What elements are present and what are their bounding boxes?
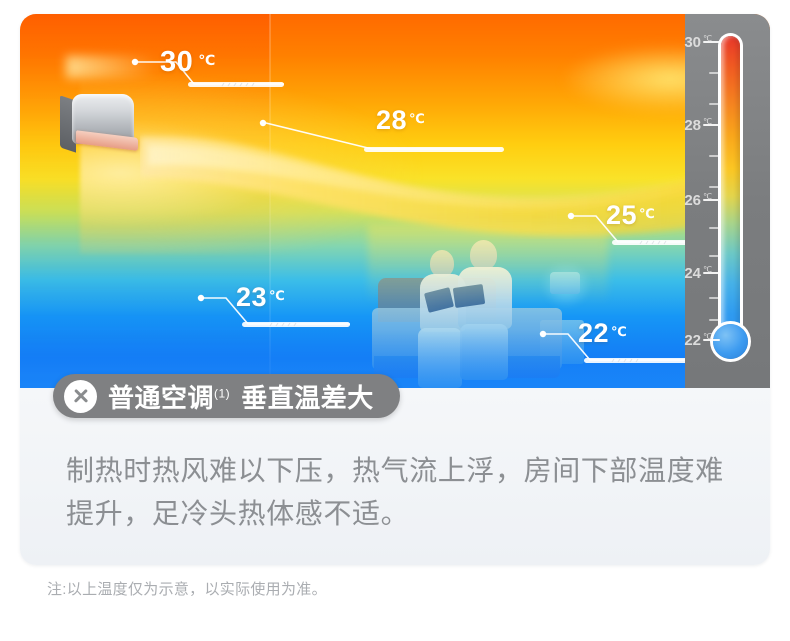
badge-subtitle: 垂直温差大 [241, 383, 374, 413]
thermometer-bulb [713, 324, 748, 359]
person-right [470, 240, 497, 270]
thermometer-label-24-value: 24 [684, 265, 701, 282]
page-root: 30℃ 28℃ [0, 0, 790, 641]
thermometer-panel: 30℃ 28℃ 26℃ 24℃ 22℃ [685, 14, 770, 388]
thermometer-tick-minor [709, 319, 720, 321]
thermometer-tube [721, 36, 740, 338]
body-paragraph: 制热时热风难以下压，热气流上浮，房间下部温度难提升，足冷头热体感不适。 [66, 450, 738, 535]
thermometer-label-22-value: 22 [684, 332, 701, 349]
thermometer-label-28-unit: ℃ [703, 117, 712, 126]
status-badge: 普通空调(1)垂直温差大 [53, 374, 400, 418]
table-lamp-icon [550, 272, 580, 294]
person-left-head [430, 250, 454, 277]
thermometer-label-22-unit: ℃ [703, 332, 712, 341]
badge-label: 普通空调(1)垂直温差大 [108, 378, 374, 415]
content-card: 30℃ 28℃ [20, 14, 770, 565]
air-conditioner-unit [60, 94, 140, 156]
thermometer-label-24-unit: ℃ [703, 265, 712, 274]
temperature-unit-22: ℃ [611, 324, 627, 339]
temperature-value-22: 22 [578, 318, 609, 348]
thermometer-label-26-unit: ℃ [703, 192, 712, 201]
temperature-unit-30: ℃ [198, 52, 215, 68]
temperature-unit-25: ℃ [639, 206, 655, 221]
thermometer-tick-minor [709, 155, 720, 157]
temperature-value-25: 25 [606, 200, 637, 230]
thermometer-tick-minor [709, 72, 720, 74]
thermometer-tick-minor [709, 103, 720, 105]
thermometer-label-30-unit: ℃ [703, 34, 712, 43]
hero-thermal-image: 30℃ 28℃ [20, 14, 770, 388]
temperature-value-28: 28 [376, 105, 407, 135]
tablet-device-right [453, 284, 485, 308]
thermometer-label-30: 30℃ [684, 35, 712, 50]
person-right-head [470, 240, 497, 270]
thermometer-tick-minor [709, 227, 720, 229]
thermometer-label-26-value: 26 [684, 192, 701, 209]
temperature-unit-23: ℃ [269, 288, 285, 303]
temperature-value-23: 23 [236, 282, 267, 312]
thermometer-label-30-value: 30 [684, 34, 701, 51]
cross-circle-icon [64, 380, 97, 413]
thermometer-label-24: 24℃ [684, 266, 712, 281]
thermometer-label-26: 26℃ [684, 193, 712, 208]
thermometer-label-28-value: 28 [684, 117, 701, 134]
temperature-value-30: 30 [160, 46, 193, 78]
thermometer-label-28: 28℃ [684, 118, 712, 133]
badge-superscript: (1) [214, 386, 230, 400]
badge-title: 普通空调 [108, 383, 214, 413]
thermometer-label-22: 22℃ [684, 333, 712, 348]
thermometer-tick-minor [709, 186, 720, 188]
person-left [430, 250, 454, 277]
thermometer-tick-minor [709, 255, 720, 257]
temperature-unit-28: ℃ [409, 111, 425, 126]
thermometer-tick-minor [709, 297, 720, 299]
footnote-text: 注:以上温度仅为示意，以实际使用为准。 [47, 578, 327, 599]
